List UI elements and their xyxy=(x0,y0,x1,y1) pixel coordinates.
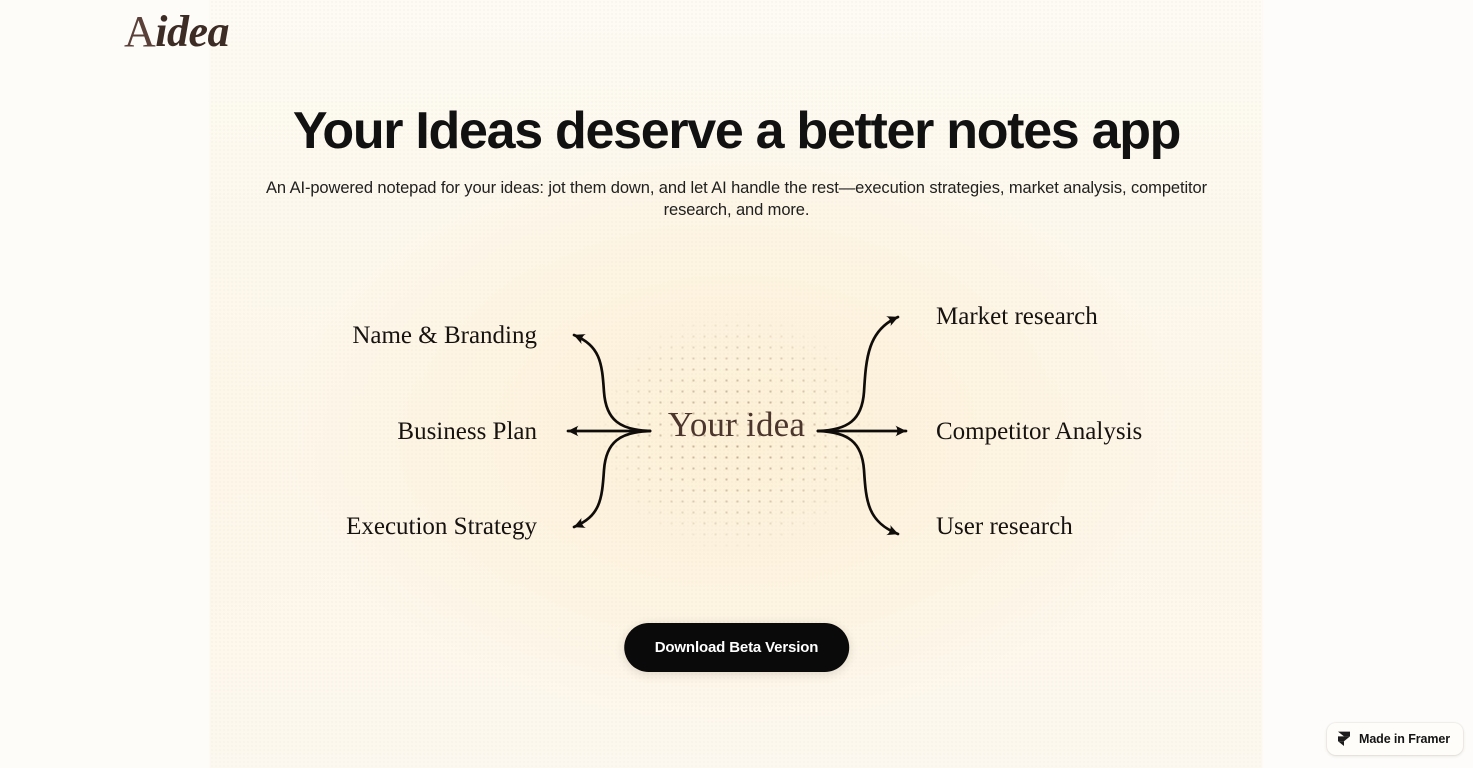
branch-label-market-research: Market research xyxy=(936,304,1098,329)
made-in-framer-label: Made in Framer xyxy=(1359,732,1450,746)
branch-label-name-branding: Name & Branding xyxy=(352,323,537,348)
framer-logo-icon xyxy=(1337,731,1351,747)
branch-text: Execution Strategy xyxy=(346,513,537,540)
branch-label-competitor-analysis: Competitor Analysis xyxy=(936,419,1142,444)
connector-user-research xyxy=(818,431,898,534)
branch-text: Market research xyxy=(936,303,1098,330)
download-beta-button-label: Download Beta Version xyxy=(655,639,819,656)
branch-label-execution-strategy: Execution Strategy xyxy=(346,514,537,539)
branch-label-business-plan: Business Plan xyxy=(397,419,537,444)
branch-text: Competitor Analysis xyxy=(936,418,1142,445)
brand-logo[interactable]: Aidea xyxy=(124,10,229,54)
download-beta-button[interactable]: Download Beta Version xyxy=(624,623,850,672)
branch-text: Name & Branding xyxy=(352,322,537,349)
center-node-your-idea: Your idea xyxy=(0,407,1473,442)
page-title: Your Ideas deserve a better notes app xyxy=(0,103,1473,159)
brand-logo-rest: idea xyxy=(155,7,229,56)
hero-subtitle: An AI-powered notepad for your ideas: jo… xyxy=(249,178,1224,222)
brand-logo-first-letter: A xyxy=(124,7,155,56)
branch-text: Business Plan xyxy=(397,418,537,445)
made-in-framer-badge[interactable]: Made in Framer xyxy=(1327,723,1463,755)
branch-text: User research xyxy=(936,513,1073,540)
connector-execution-strategy xyxy=(574,431,650,527)
branch-label-user-research: User research xyxy=(936,514,1073,539)
center-node-label: Your idea xyxy=(668,405,805,444)
